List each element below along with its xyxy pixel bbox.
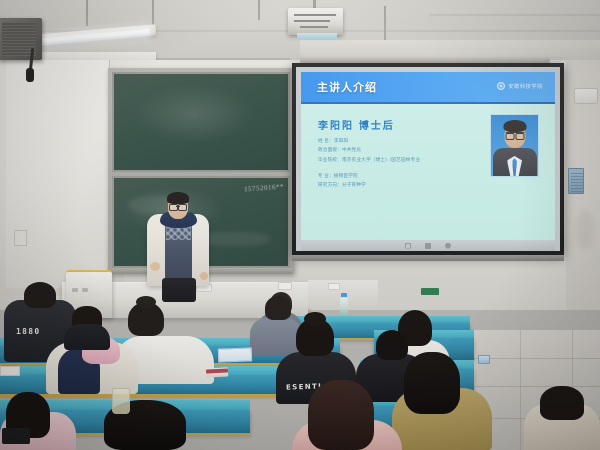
slide-view-icon[interactable] [405, 243, 411, 249]
student-hair [404, 352, 460, 414]
speaker-detail-line: 政治面貌：中共党员 [318, 147, 468, 152]
portrait-hair [503, 120, 526, 132]
projector-vent [300, 26, 328, 28]
presenter-hand [200, 272, 208, 280]
dark-device [2, 428, 30, 444]
student-hair [24, 282, 56, 308]
speaker-detail-line: 姓 名：李阳阳 [318, 138, 468, 143]
logo-text: 安徽科技学院 [508, 83, 543, 90]
wall-stain [576, 210, 594, 250]
speaker-detail-line: 研究方向：分子育种学 [318, 182, 468, 187]
blue-folder [218, 347, 252, 362]
desk-item [328, 283, 340, 290]
student-hair-bun [136, 296, 156, 308]
speaker-portrait-photo [490, 114, 539, 177]
presenter-hand [150, 262, 160, 271]
wall-mounted-unit [574, 88, 598, 104]
presenter-lower-body [162, 278, 196, 302]
student-hair [308, 380, 374, 450]
jacket-badge-text: 1880 [16, 327, 40, 336]
speaker-detail-list: 姓 名：李阳阳 政治面貌：中共党员 毕业院校：南京农业大学（博士）/园艺园林专业… [318, 138, 468, 191]
podium-button[interactable] [82, 288, 88, 292]
phone-on-bench [478, 355, 490, 364]
ceiling-seam [430, 14, 600, 16]
lecture-hall-photo: 15752016** 主讲人介绍 安徽科技学院 李阳阳 博士后 姓 名：李阳阳 … [0, 0, 600, 450]
chalk-smudge [200, 232, 270, 246]
student-hair [540, 386, 584, 420]
pen-icon[interactable] [425, 243, 431, 249]
spacer [318, 166, 468, 173]
board-reflection [134, 84, 254, 144]
wall-speaker [0, 18, 42, 60]
podium-button[interactable] [72, 288, 78, 292]
presenter-hair [167, 192, 189, 204]
logo-emblem-icon [497, 82, 505, 90]
presentation-slide[interactable]: 主讲人介绍 安徽科技学院 李阳阳 博士后 姓 名：李阳阳 政治面貌：中共党员 毕… [301, 72, 555, 240]
wall-socket[interactable] [14, 230, 27, 246]
projector-vent [294, 14, 336, 16]
portrait-glasses-icon [505, 132, 524, 137]
screen-bottom-bar [292, 255, 564, 261]
slide-banner-edge [301, 102, 555, 104]
student-body [64, 324, 110, 350]
water-bottle [340, 297, 348, 315]
student-hair [265, 296, 291, 320]
speaker-detail-line: 专 业：植物医学院 [318, 173, 468, 178]
floor-tile-line [520, 330, 521, 450]
blackboard-upper-panel [112, 72, 290, 172]
left-wall-panel [6, 60, 110, 288]
projector-vent [294, 20, 330, 22]
presenter-toolbar[interactable] [301, 240, 555, 251]
student-body [250, 318, 302, 356]
bench-trim [0, 394, 300, 397]
control-panel-switches-icon[interactable] [571, 172, 583, 192]
student-hair-bun [304, 312, 326, 326]
student-hair [376, 330, 408, 360]
paper-sheet [0, 366, 20, 376]
presenter-glasses-bridge [176, 206, 180, 207]
menu-icon[interactable] [445, 243, 451, 249]
glass-cup [112, 388, 130, 414]
desk-item [278, 282, 292, 290]
wall-control-panel[interactable] [568, 168, 584, 194]
slide-title: 主讲人介绍 [317, 79, 377, 95]
screen-surface: 主讲人介绍 安徽科技学院 李阳阳 博士后 姓 名：李阳阳 政治面貌：中共党员 毕… [296, 67, 560, 251]
projector-lens [297, 33, 337, 40]
university-logo: 安徽科技学院 [497, 82, 543, 90]
speaker-name: 李阳阳 博士后 [318, 117, 395, 132]
light-support-rod [258, 0, 260, 20]
light-support-rod [86, 0, 88, 26]
speaker-detail-line: 毕业院校：南京农业大学（博士）/园艺园林专业 [318, 157, 468, 162]
projection-screen: 主讲人介绍 安徽科技学院 李阳阳 博士后 姓 名：李阳阳 政治面貌：中共党员 毕… [292, 63, 564, 255]
microphone-icon [26, 68, 34, 82]
exit-sign [421, 288, 439, 295]
